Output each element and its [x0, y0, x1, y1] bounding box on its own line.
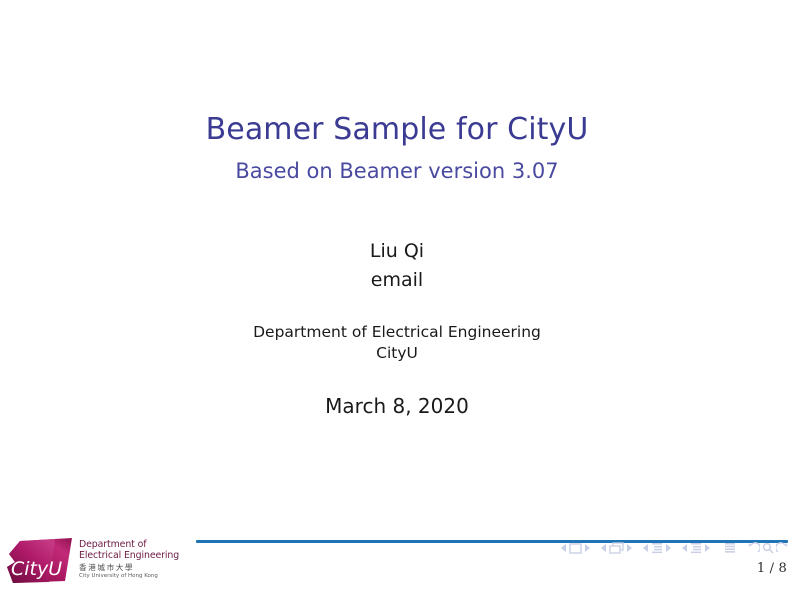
- logo-university-english: City University of Hong Kong: [79, 573, 194, 579]
- footline: CityU Department of Electrical Engineeri…: [0, 535, 794, 597]
- nav-slide-prev-arrow[interactable]: [561, 544, 567, 552]
- nav-section-icon[interactable]: [690, 542, 702, 554]
- nav-forward-icon[interactable]: [776, 542, 788, 554]
- nav-group-section: [680, 542, 712, 554]
- page-number: 1 / 8: [757, 561, 787, 576]
- nav-subsection-icon[interactable]: [651, 542, 663, 554]
- logo-department-line2: Electrical Engineering: [79, 550, 194, 561]
- logo-department-line1: Department of: [79, 539, 194, 550]
- nav-group-subsection: [641, 542, 673, 554]
- institute-block: Department of Electrical Engineering Cit…: [0, 322, 794, 364]
- nav-group-slide: [559, 543, 592, 554]
- nav-group-frame: [599, 542, 634, 554]
- institute-department: Department of Electrical Engineering: [0, 322, 794, 343]
- logo-university-chinese: 香港城市大學: [79, 564, 194, 573]
- navigation-symbols: [559, 542, 788, 554]
- nav-group-document: [724, 542, 736, 554]
- nav-frame-icon[interactable]: [609, 542, 624, 554]
- page-title: Beamer Sample for CityU: [0, 113, 794, 146]
- author-email: email: [0, 266, 794, 295]
- nav-frame-next-arrow[interactable]: [626, 544, 632, 552]
- author-name: Liu Qi: [0, 237, 794, 266]
- page-subtitle: Based on Beamer version 3.07: [0, 160, 794, 183]
- nav-subsection-prev-arrow[interactable]: [643, 544, 649, 552]
- nav-frame-prev-arrow[interactable]: [601, 544, 607, 552]
- nav-slide-icon[interactable]: [569, 543, 582, 554]
- nav-back-icon[interactable]: [748, 542, 760, 554]
- nav-slide-next-arrow[interactable]: [584, 544, 590, 552]
- beamer-slide: Beamer Sample for CityU Based on Beamer …: [0, 0, 794, 597]
- nav-subsection-next-arrow[interactable]: [665, 544, 671, 552]
- cityu-logo-text: Department of Electrical Engineering 香港城…: [79, 539, 194, 579]
- cityu-logo-icon: CityU: [3, 537, 75, 585]
- nav-section-next-arrow[interactable]: [704, 544, 710, 552]
- author-block: Liu Qi email: [0, 237, 794, 296]
- presentation-date: March 8, 2020: [0, 394, 794, 418]
- nav-document-icon[interactable]: [724, 542, 736, 554]
- cityu-logo-block: CityU Department of Electrical Engineeri…: [3, 535, 193, 591]
- nav-group-history: [748, 542, 788, 554]
- nav-section-prev-arrow[interactable]: [682, 544, 688, 552]
- institute-university: CityU: [0, 343, 794, 364]
- svg-text:CityU: CityU: [11, 558, 62, 580]
- nav-search-icon[interactable]: [762, 542, 774, 554]
